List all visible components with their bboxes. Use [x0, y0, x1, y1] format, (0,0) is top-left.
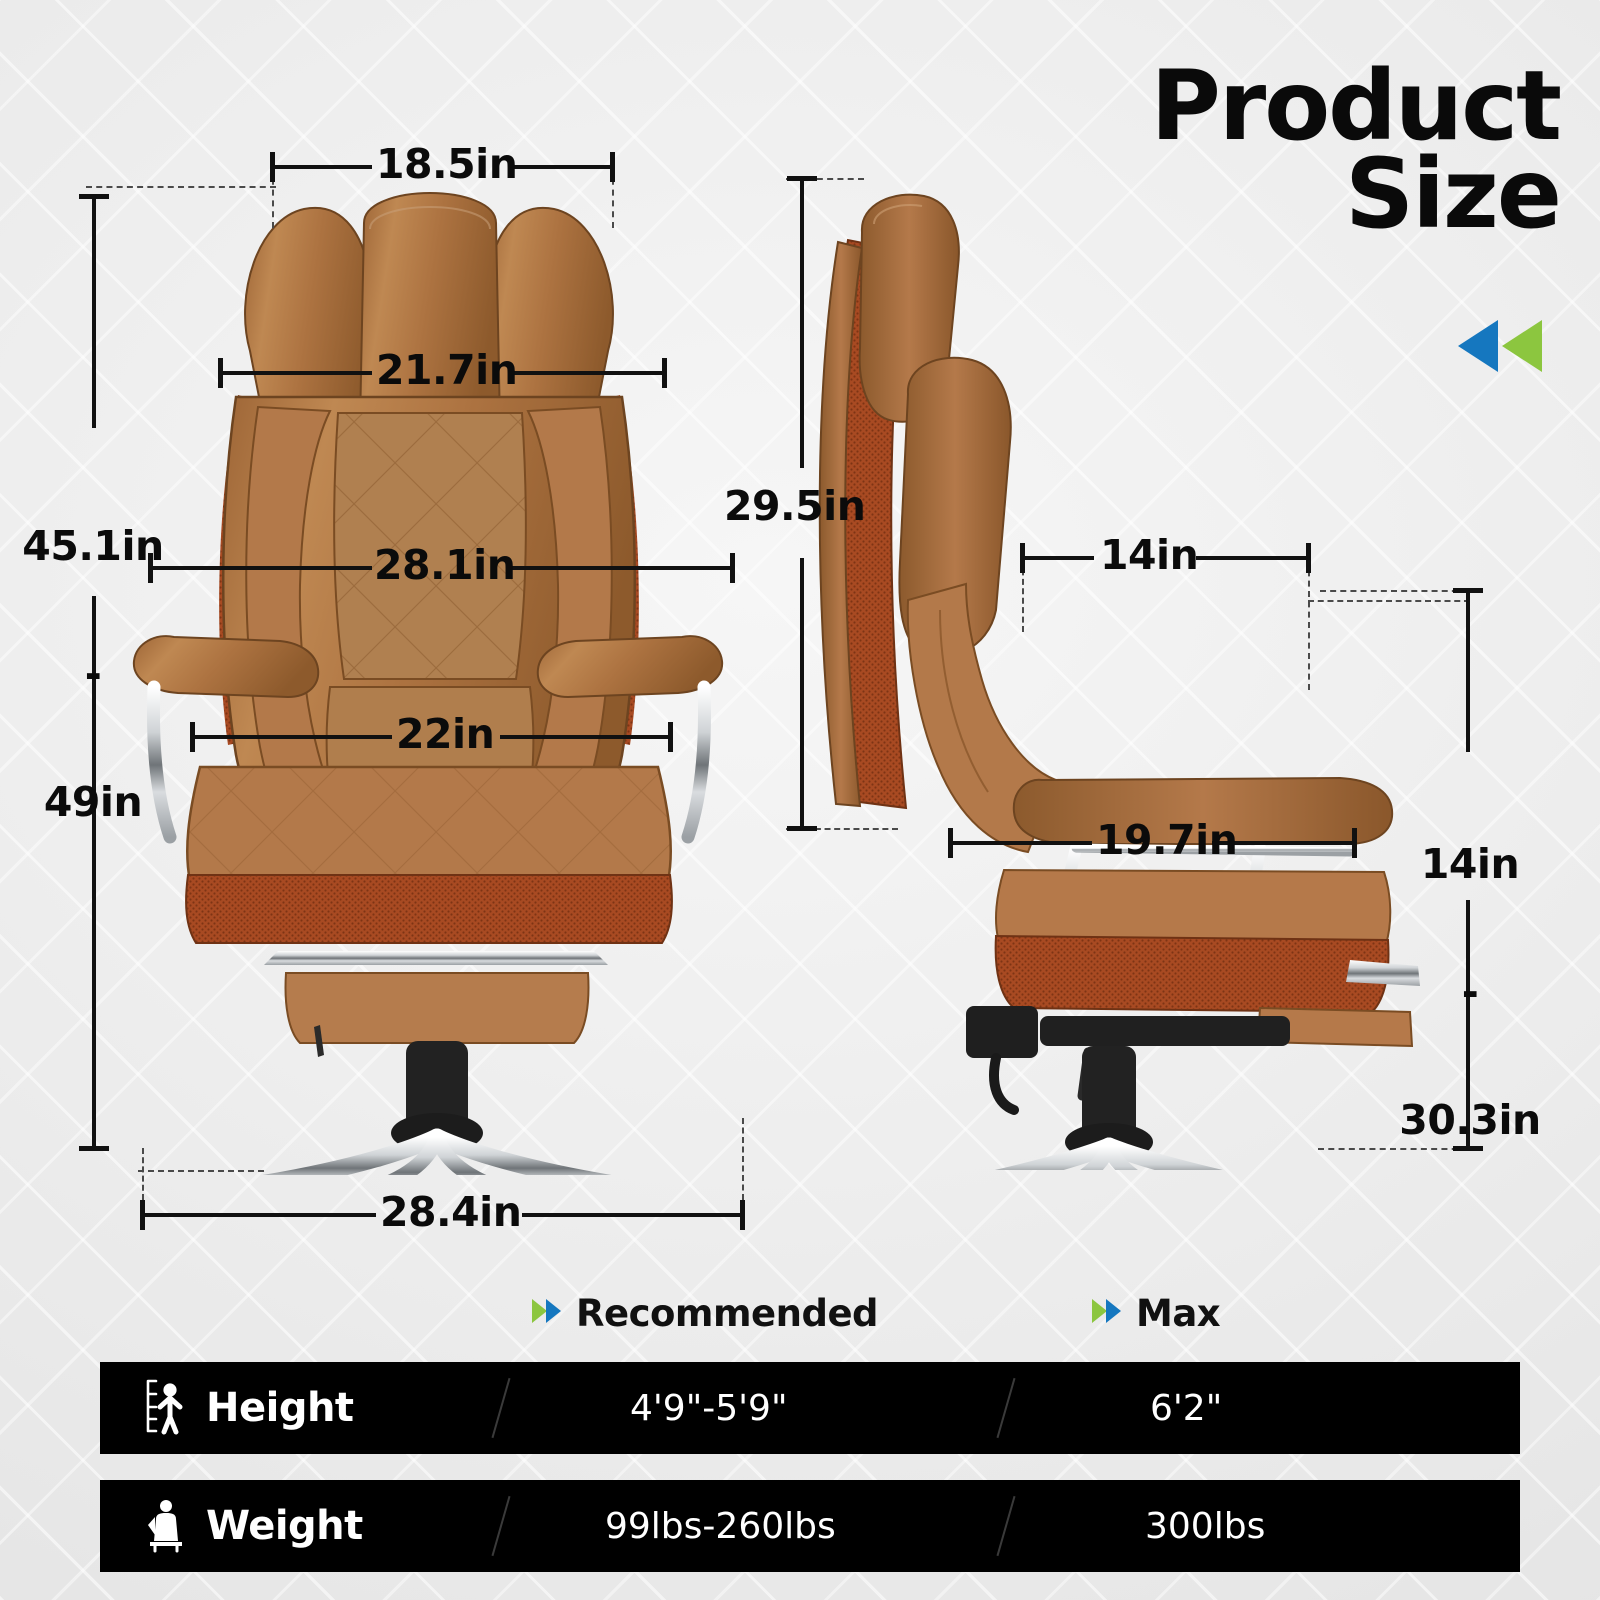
weight-scale-icon: [142, 1495, 188, 1558]
table-row: Weight 99lbs-260lbs 300lbs: [100, 1480, 1520, 1572]
header-recommended: Recommended: [530, 1292, 878, 1335]
row-label-weight: Weight: [142, 1495, 363, 1558]
table-row: Height 4'9"-5'9" 6'2": [100, 1362, 1520, 1454]
double-arrow-right-icon: [530, 1296, 564, 1331]
tick-height-bottom: [79, 1146, 109, 1151]
row-label-height: Height: [142, 1377, 354, 1440]
rule-28-4-left: [142, 1213, 376, 1217]
guide-14-right-h: [1308, 600, 1470, 602]
rule-29-5-bottom: [800, 558, 804, 830]
rule-22-right: [500, 735, 670, 739]
dim-seat-width: 22in: [396, 710, 494, 758]
tick-29-5-top: [787, 176, 817, 181]
dim-backrest-width: 21.7in: [376, 346, 517, 394]
dim-seat-height-line3: 30.3in: [1374, 1099, 1566, 1142]
guide-14-right: [1308, 560, 1310, 690]
rule-21-7-left: [220, 371, 372, 375]
row-divider-2: [996, 1378, 1015, 1438]
row-label-height-text: Height: [206, 1385, 354, 1431]
row-divider-2: [996, 1496, 1015, 1556]
height-recommended-value: 4'9"-5'9": [630, 1388, 788, 1429]
height-person-icon: [142, 1377, 188, 1440]
dim-seat-height-line1: 14in: [1374, 843, 1566, 886]
tick-29-5-bottom: [787, 826, 817, 831]
dim-seat-depth: 19.7in: [1096, 816, 1237, 864]
guide-headrest-left: [86, 186, 276, 188]
row-divider-1: [491, 1496, 510, 1556]
dim-overall-height-line3: 49in: [18, 781, 168, 824]
dim-overall-width: 28.1in: [374, 541, 515, 589]
weight-recommended-value: 99lbs-260lbs: [605, 1506, 836, 1547]
guide-base-left-v: [142, 1148, 144, 1200]
dim-overall-height-line2: -: [18, 653, 168, 696]
guide-seatheight-top: [1320, 590, 1468, 592]
dim-overall-height: 45.1in - 49in: [18, 440, 168, 909]
header-max-label: Max: [1136, 1292, 1220, 1335]
rule-28-1-left: [150, 566, 372, 570]
row-label-weight-text: Weight: [206, 1503, 363, 1549]
guide-base-left: [138, 1170, 264, 1172]
rule-29-5-top: [800, 178, 804, 468]
dim-headrest-width: 18.5in: [376, 140, 517, 188]
rule-19-7-left: [950, 841, 1092, 845]
guide-base-right-v: [742, 1118, 744, 1200]
rule-seatheight-top: [1466, 590, 1470, 752]
weight-max-value: 300lbs: [1145, 1506, 1265, 1547]
rule-14-right: [1196, 556, 1308, 560]
header-recommended-label: Recommended: [576, 1292, 878, 1335]
double-arrow-right-icon: [1090, 1296, 1124, 1331]
dim-armrest-depth: 14in: [1100, 531, 1198, 579]
spec-table-header: Recommended Max: [100, 1288, 1520, 1350]
row-divider-1: [491, 1378, 510, 1438]
rule-28-1-right: [510, 566, 732, 570]
brand-double-arrow-left-icon: [1442, 318, 1552, 374]
rule-overall-height-top: [92, 196, 96, 428]
dim-seat-height-line2: -: [1374, 971, 1566, 1014]
tick-height-top: [79, 194, 109, 199]
tick-seatheight-top: [1453, 588, 1483, 593]
dim-base-width: 28.4in: [380, 1188, 521, 1236]
height-max-value: 6'2": [1150, 1388, 1222, 1429]
front-view-chair: [108, 175, 788, 1175]
rule-21-7-right: [512, 371, 664, 375]
rule-18-5-right: [512, 165, 612, 169]
dim-seat-height: 14in - 30.3in: [1374, 758, 1566, 1227]
rule-22-left: [192, 735, 392, 739]
dim-overall-height-line1: 45.1in: [18, 525, 168, 568]
rule-14-left: [1022, 556, 1094, 560]
side-view-chair: [790, 180, 1440, 1170]
dim-backrest-height: 29.5in: [724, 482, 865, 530]
rule-28-4-right: [522, 1213, 742, 1217]
header-max: Max: [1090, 1292, 1220, 1335]
rule-18-5-left: [272, 165, 372, 169]
